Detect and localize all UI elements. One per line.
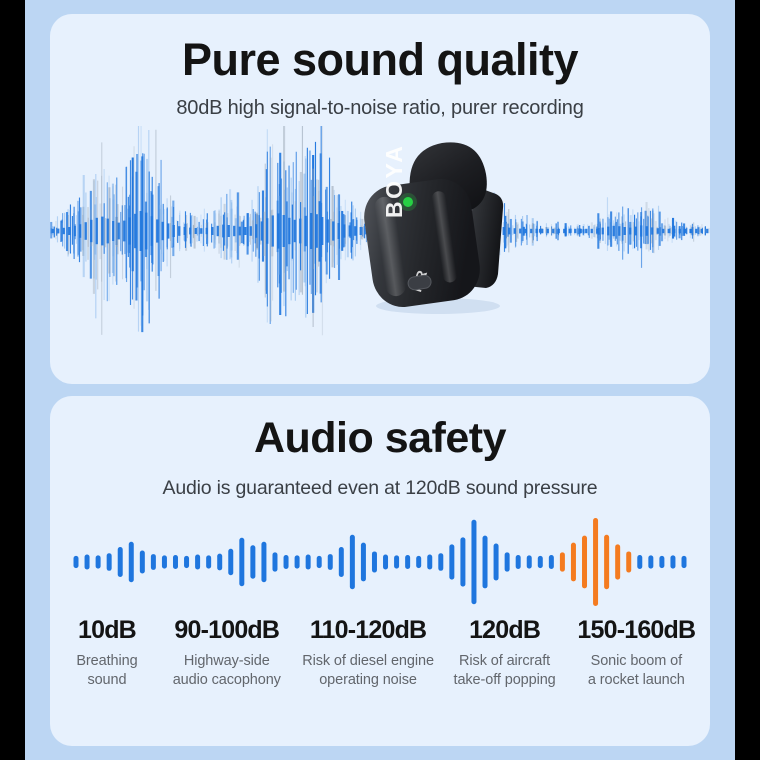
sound-pressure-bar-chart <box>50 514 710 610</box>
equalizer-bar <box>670 556 675 569</box>
legend-item: 120dBRisk of aircrafttake-off popping <box>441 616 569 689</box>
card-audio-safety: Audio safety Audio is guaranteed even at… <box>50 396 710 746</box>
legend-value: 150-160dB <box>571 616 702 645</box>
equalizer-bar <box>483 536 488 589</box>
page-canvas: Pure sound quality 80dB high signal-to-n… <box>25 0 735 760</box>
equalizer-bar <box>107 553 112 571</box>
equalizer-bar <box>184 556 189 568</box>
equalizer-bar <box>228 549 233 575</box>
equalizer-bar <box>217 554 222 571</box>
legend-description: Risk of aircrafttake-off popping <box>443 652 567 689</box>
equalizer-bar <box>239 538 244 586</box>
equalizer-bar <box>151 554 156 570</box>
equalizer-bar <box>449 545 454 580</box>
equalizer-bar <box>173 555 178 569</box>
legend-item: 90-100dBHighway-sideaudio cacophony <box>158 616 296 689</box>
equalizer-bar <box>505 552 510 571</box>
equalizer-bar <box>328 554 333 570</box>
equalizer-bar <box>438 553 443 571</box>
equalizer-bar <box>626 552 631 573</box>
equalizer-stage <box>50 514 710 610</box>
equalizer-bar <box>582 536 587 589</box>
legend-description: Breathingsound <box>58 652 156 689</box>
equalizer-bar <box>549 555 554 569</box>
equalizer-bar <box>427 555 432 570</box>
equalizer-bar <box>306 555 311 570</box>
page-title: Pure sound quality <box>50 36 710 83</box>
legend-value: 120dB <box>443 616 567 645</box>
equalizer-bar <box>96 556 101 569</box>
sound-subtitle: 80dB high signal-to-noise ratio, purer r… <box>50 97 710 120</box>
legend-description: Sonic boom ofa rocket launch <box>571 652 702 689</box>
legend-item: 10dBBreathingsound <box>56 616 158 689</box>
equalizer-bar <box>261 542 266 582</box>
equalizer-bar <box>516 555 521 569</box>
waveform-stage: BOYA NR <box>50 126 710 336</box>
sound-pressure-legend: 10dBBreathingsound90-100dBHighway-sideau… <box>50 616 710 689</box>
brand-label: BOYA <box>381 144 407 218</box>
legend-item: 110-120dBRisk of diesel engineoperating … <box>296 616 441 689</box>
equalizer-bar <box>615 545 620 580</box>
equalizer-bar <box>494 544 499 581</box>
equalizer-bar <box>74 556 79 568</box>
legend-description: Risk of diesel engineoperating noise <box>298 652 439 689</box>
equalizer-bar <box>648 556 653 569</box>
equalizer-bar <box>394 556 399 569</box>
equalizer-bar <box>460 538 465 587</box>
equalizer-bar <box>140 551 145 574</box>
equalizer-bar <box>637 555 642 569</box>
legend-value: 110-120dB <box>298 616 439 645</box>
equalizer-bar <box>416 556 421 568</box>
equalizer-bar <box>295 556 300 569</box>
equalizer-bar <box>405 555 410 569</box>
equalizer-bar <box>317 556 322 568</box>
legend-description: Highway-sideaudio cacophony <box>160 652 294 689</box>
equalizer-bar <box>350 535 355 590</box>
equalizer-bar <box>593 518 598 606</box>
boya-microphone-image: BOYA NR <box>346 134 536 319</box>
card-pure-sound-quality: Pure sound quality 80dB high signal-to-n… <box>50 14 710 384</box>
equalizer-bar <box>272 552 277 571</box>
product-infographic: Pure sound quality 80dB high signal-to-n… <box>0 0 760 760</box>
legend-value: 10dB <box>58 616 156 645</box>
equalizer-bar <box>162 556 167 569</box>
equalizer-bar <box>372 552 377 573</box>
equalizer-bar <box>361 543 366 582</box>
safety-title: Audio safety <box>50 416 710 461</box>
equalizer-bar <box>118 547 123 577</box>
equalizer-bar <box>538 556 543 568</box>
equalizer-bar <box>383 555 388 570</box>
equalizer-bar <box>250 545 255 578</box>
equalizer-bar <box>129 542 134 582</box>
safety-subtitle: Audio is guaranteed even at 120dB sound … <box>50 477 710 500</box>
equalizer-bar <box>206 556 211 569</box>
equalizer-bar <box>571 543 576 582</box>
equalizer-bar <box>682 556 687 568</box>
equalizer-bar <box>560 552 565 571</box>
equalizer-bar <box>471 520 476 604</box>
equalizer-bar <box>195 555 200 570</box>
legend-item: 150-160dBSonic boom ofa rocket launch <box>569 616 704 689</box>
equalizer-bar <box>527 556 532 569</box>
equalizer-bar <box>85 555 90 570</box>
equalizer-bar <box>339 547 344 577</box>
equalizer-bar <box>284 555 289 569</box>
legend-value: 90-100dB <box>160 616 294 645</box>
equalizer-bar <box>659 556 664 568</box>
equalizer-bar <box>604 535 609 590</box>
